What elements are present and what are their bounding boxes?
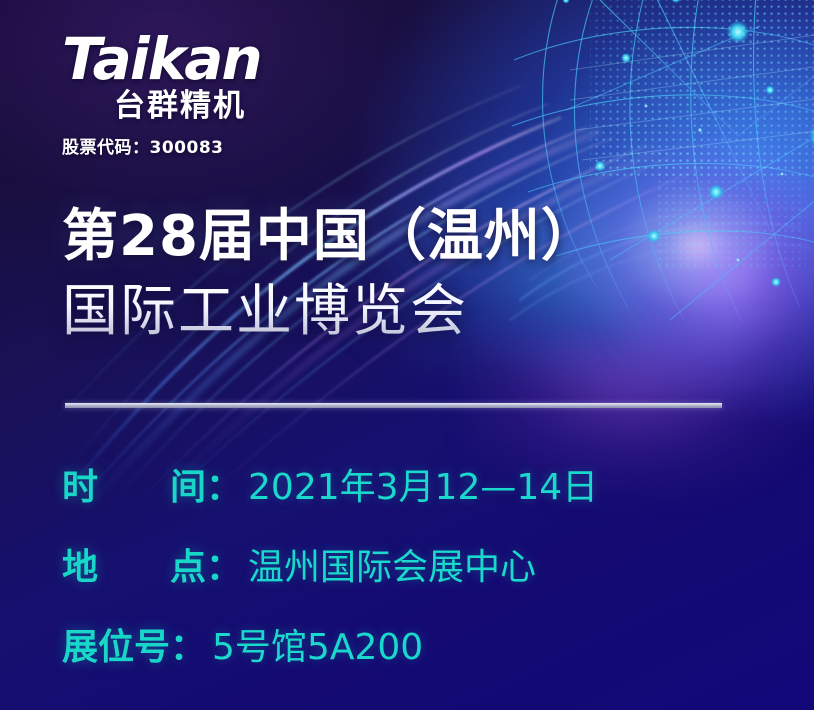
event-info-list: 时 间： 2021年3月12—14日 地 点： 温州国际会展中心 展位号： 5号… bbox=[62, 458, 598, 670]
event-title-line1: 第28届中国（温州） bbox=[62, 205, 598, 270]
company-logo: Taikan 台群精机 股票代码：300083 bbox=[62, 30, 261, 158]
logo-chinese-name: 台群精机 bbox=[114, 90, 261, 123]
info-value-venue: 温州国际会展中心 bbox=[248, 538, 536, 590]
event-title-line2: 国际工业博览会 bbox=[62, 280, 598, 345]
info-value-booth: 5号馆5A200 bbox=[212, 618, 423, 670]
stock-code-line: 股票代码：300083 bbox=[62, 133, 261, 158]
info-value-date: 2021年3月12—14日 bbox=[248, 458, 598, 510]
info-row-date: 时 间： 2021年3月12—14日 bbox=[62, 458, 598, 510]
info-row-booth: 展位号： 5号馆5A200 bbox=[62, 618, 598, 670]
title-divider bbox=[65, 403, 722, 408]
event-title: 第28届中国（温州） 国际工业博览会 bbox=[62, 205, 598, 345]
info-label-venue: 地 点： bbox=[62, 538, 242, 590]
logo-wordmark: Taikan bbox=[62, 30, 261, 88]
info-label-date: 时 间： bbox=[62, 458, 242, 510]
info-row-venue: 地 点： 温州国际会展中心 bbox=[62, 538, 598, 590]
exhibition-promo-banner: Taikan 台群精机 股票代码：300083 第28届中国（温州） 国际工业博… bbox=[0, 0, 814, 710]
info-label-booth: 展位号： bbox=[62, 618, 206, 670]
